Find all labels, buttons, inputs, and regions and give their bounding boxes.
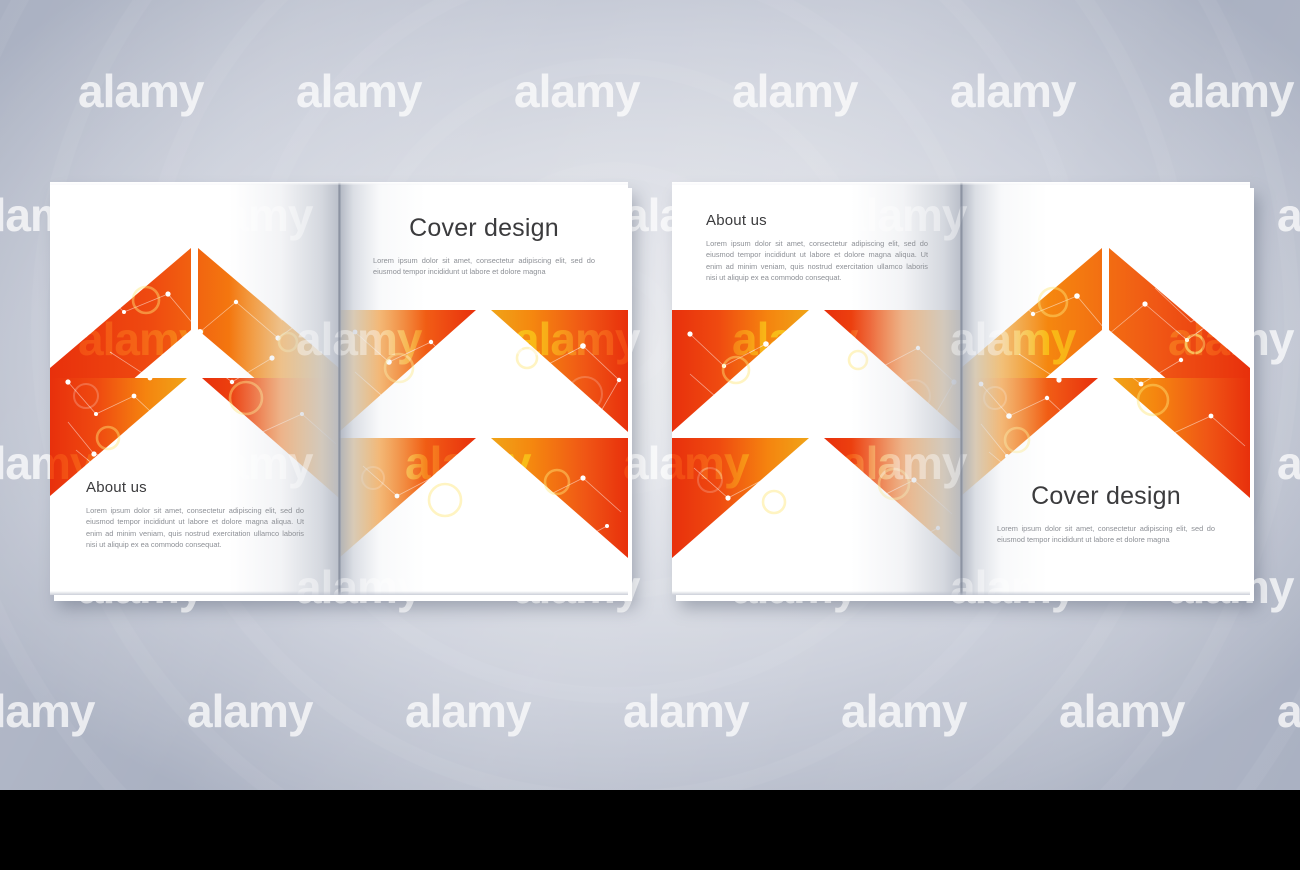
- heading-about-us: About us: [86, 479, 304, 496]
- brochure-right: About us Lorem ipsum dolor sit amet, con…: [672, 182, 1250, 595]
- page-right-inner: Cover design Lorem ipsum dolor sit amet,…: [961, 182, 1250, 595]
- brochure-left: About us Lorem ipsum dolor sit amet, con…: [50, 182, 628, 595]
- alamy-footer-bar: alamy Image ID: KERP4C www.alamy.com: [0, 790, 1300, 870]
- text-block-about-us-right: About us Lorem ipsum dolor sit amet, con…: [706, 212, 928, 284]
- text-block-cover-design-left: Cover design Lorem ipsum dolor sit amet,…: [373, 214, 595, 278]
- body-copy: Lorem ipsum dolor sit amet, consectetur …: [997, 523, 1215, 546]
- heading-cover-design: Cover design: [997, 482, 1215, 511]
- heading-cover-design: Cover design: [373, 214, 595, 243]
- body-copy: Lorem ipsum dolor sit amet, consectetur …: [86, 505, 304, 551]
- body-copy: Lorem ipsum dolor sit amet, consectetur …: [373, 255, 595, 278]
- body-copy: Lorem ipsum dolor sit amet, consectetur …: [706, 238, 928, 284]
- page-left-inner: Cover design Lorem ipsum dolor sit amet,…: [339, 182, 628, 595]
- text-block-cover-design-right: Cover design Lorem ipsum dolor sit amet,…: [997, 482, 1215, 546]
- text-block-about-us-left: About us Lorem ipsum dolor sit amet, con…: [86, 479, 304, 551]
- page-left-outer: About us Lorem ipsum dolor sit amet, con…: [50, 182, 339, 595]
- heading-about-us: About us: [706, 212, 928, 229]
- stock-photo-stage: alamyalamyalamyalamyalamyalamyalamyalamy…: [0, 0, 1300, 870]
- page-right-outer: About us Lorem ipsum dolor sit amet, con…: [672, 182, 961, 595]
- photograph-canvas: alamyalamyalamyalamyalamyalamyalamyalamy…: [0, 0, 1300, 790]
